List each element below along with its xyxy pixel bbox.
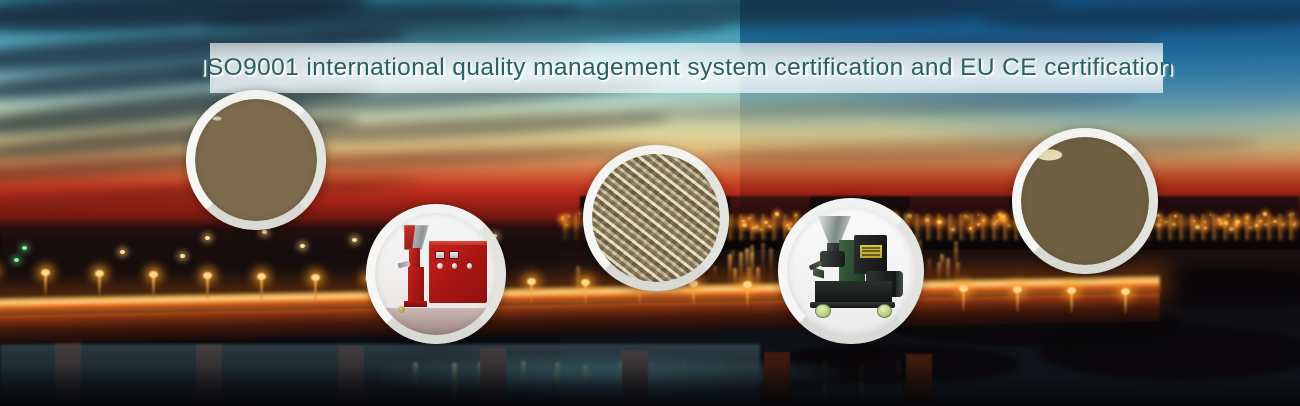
city-light <box>1204 227 1206 229</box>
machine-frame <box>815 281 892 304</box>
green-pellet-mill-illustration <box>787 207 915 335</box>
distant-light <box>22 246 27 250</box>
motor-end-cap <box>896 271 904 297</box>
machine-column <box>408 267 424 304</box>
promo-banner: ISO9001 international quality management… <box>0 0 1300 406</box>
badge-image-red-machine <box>375 213 497 335</box>
city-light <box>977 223 980 225</box>
distant-light <box>300 244 305 248</box>
city-light <box>993 223 996 225</box>
pellet-texture <box>195 99 317 221</box>
pellet-texture <box>592 154 720 282</box>
red-pellet-mill-illustration <box>375 213 497 335</box>
city-light <box>561 219 563 221</box>
certification-title-text: ISO9001 international quality management… <box>200 54 1174 82</box>
city-light <box>1235 224 1238 226</box>
distant-lights <box>0 228 600 248</box>
pellet-die-chamber <box>820 251 844 268</box>
city-light <box>1293 224 1295 225</box>
city-light <box>561 216 564 219</box>
city-light <box>759 228 763 231</box>
discharge-chute <box>813 267 825 279</box>
hopper-neck <box>409 248 420 268</box>
bridge-lamp <box>206 276 209 298</box>
gauge-display <box>435 251 445 260</box>
bridge-lamp <box>692 284 695 306</box>
city-light <box>982 220 984 222</box>
city-light <box>925 218 929 222</box>
pellet-texture <box>1021 137 1149 265</box>
city-light <box>1204 221 1206 223</box>
bridge-lamp <box>746 285 749 307</box>
city-light <box>937 220 941 223</box>
city-light <box>764 221 768 224</box>
city-light <box>565 224 568 227</box>
distant-light <box>14 258 19 262</box>
caster-wheel <box>815 304 830 318</box>
city-light <box>969 227 972 230</box>
caster-wheel <box>877 304 892 318</box>
certification-title-plate: ISO9001 international quality management… <box>210 43 1163 93</box>
badge-large-wood-pellets[interactable] <box>1012 128 1158 274</box>
light-reflection <box>954 241 958 258</box>
city-light <box>752 227 755 229</box>
bridge-lamp <box>1070 291 1073 313</box>
city-light <box>747 217 752 221</box>
light-reflection <box>731 250 735 268</box>
city-light <box>1264 223 1268 226</box>
badge-image-green-machine <box>787 207 915 335</box>
city-light <box>951 228 955 231</box>
city-light <box>1160 219 1162 221</box>
machine-floor-shadow <box>375 308 497 335</box>
bridge-lamp <box>1016 290 1019 312</box>
bridge-lamp <box>584 283 587 305</box>
badge-green-pellet-mill[interactable] <box>778 198 924 344</box>
bridge-lamp <box>962 289 965 311</box>
city-light <box>967 217 969 219</box>
city-light <box>1156 223 1161 227</box>
city-light <box>1001 215 1005 218</box>
city-light <box>1209 214 1211 216</box>
city-light <box>775 212 780 216</box>
city-light <box>1245 222 1247 223</box>
city-light <box>1224 221 1228 224</box>
city-light <box>1193 220 1195 222</box>
machine-base-plate <box>404 301 427 307</box>
bridge-lamp <box>530 282 533 304</box>
city-light <box>768 225 772 228</box>
distant-light <box>262 230 267 234</box>
city-light <box>1273 220 1277 223</box>
foreground-shadow <box>0 366 1300 406</box>
badge-image-wood-pellets <box>195 99 317 221</box>
distant-light <box>205 236 210 240</box>
city-light <box>1263 212 1268 216</box>
control-knob <box>467 263 472 269</box>
distant-light <box>352 238 357 242</box>
city-light <box>1195 225 1200 229</box>
bridge-lamp <box>98 274 101 296</box>
badge-image-biomass-pellets <box>592 154 720 282</box>
city-light <box>1248 226 1252 229</box>
city-light <box>1156 214 1160 217</box>
spec-label <box>860 245 882 258</box>
bridge-lamp <box>260 277 263 299</box>
city-light <box>1007 224 1011 227</box>
city-light <box>977 214 980 217</box>
city-light <box>1291 213 1294 215</box>
control-knob <box>437 263 442 269</box>
gauge-display <box>449 251 459 260</box>
city-light <box>1174 215 1176 217</box>
distant-light <box>180 254 185 258</box>
city-light <box>1259 220 1261 222</box>
city-light <box>1002 219 1004 221</box>
city-light <box>1289 214 1292 216</box>
bridge-lamp <box>1124 292 1127 314</box>
bridge-lamp <box>44 273 47 295</box>
city-light <box>1255 224 1258 227</box>
city-light <box>742 223 747 227</box>
city-light <box>1164 221 1167 224</box>
city-light <box>1219 222 1224 226</box>
distant-light <box>120 250 125 254</box>
city-light <box>567 215 570 217</box>
badge-biomass-pellets[interactable] <box>583 145 729 291</box>
city-light <box>1229 227 1234 231</box>
city-light <box>1227 214 1230 216</box>
city-light <box>579 213 581 215</box>
badge-image-large-pellets <box>1021 137 1149 265</box>
badge-red-pellet-mill[interactable] <box>366 204 506 344</box>
city-light <box>1172 223 1176 226</box>
city-light <box>1281 223 1285 226</box>
bridge-lamp <box>314 278 317 300</box>
badge-wood-pellets-closeup[interactable] <box>186 90 326 230</box>
bridge-lamp <box>152 275 155 297</box>
